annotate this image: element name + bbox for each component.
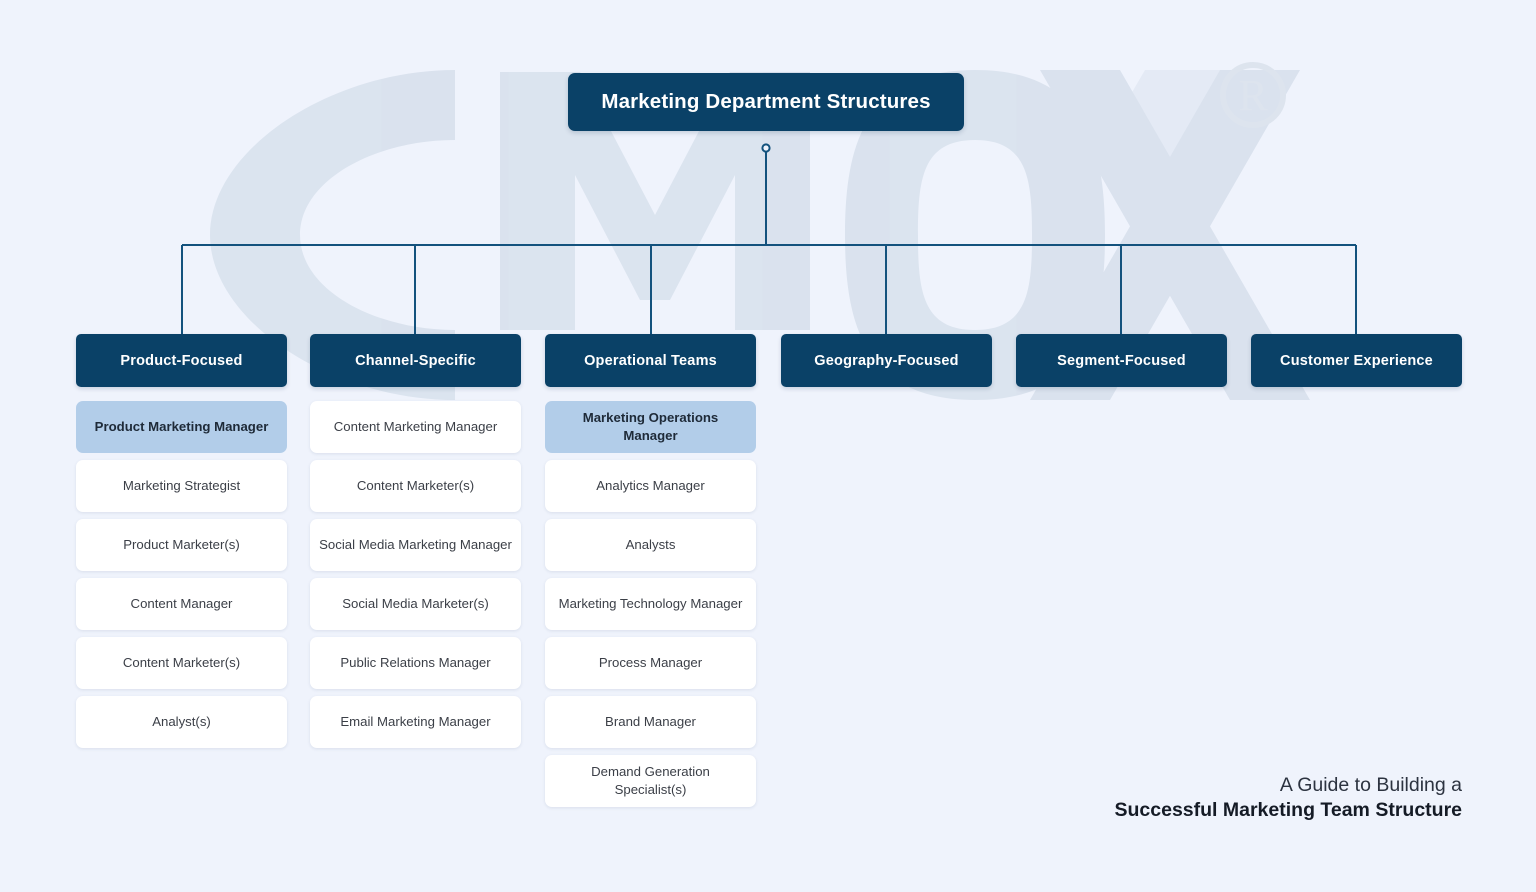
- column-header-1[interactable]: Product-Focused: [76, 334, 287, 387]
- role-card[interactable]: Content Manager: [76, 578, 287, 630]
- column-header-3[interactable]: Operational Teams: [545, 334, 756, 387]
- role-card-label: Content Marketer(s): [357, 477, 474, 495]
- role-card[interactable]: Content Marketing Manager: [310, 401, 521, 453]
- role-card-label: Content Marketing Manager: [334, 418, 497, 436]
- column-6: Customer Experience: [1251, 334, 1462, 401]
- role-card-label: Public Relations Manager: [340, 654, 490, 672]
- role-card[interactable]: Social Media Marketer(s): [310, 578, 521, 630]
- role-card-label: Demand Generation Specialist(s): [554, 763, 747, 799]
- role-card-label: Marketing Strategist: [123, 477, 240, 495]
- column-items-2: Content Marketing ManagerContent Markete…: [310, 401, 521, 748]
- role-card[interactable]: Product Marketer(s): [76, 519, 287, 571]
- column-header-label: Geography-Focused: [814, 353, 958, 369]
- svg-text:R: R: [1238, 71, 1268, 120]
- column-header-label: Product-Focused: [120, 353, 242, 369]
- role-card[interactable]: Brand Manager: [545, 696, 756, 748]
- column-items-1: Product Marketing ManagerMarketing Strat…: [76, 401, 287, 748]
- role-card[interactable]: Marketing Technology Manager: [545, 578, 756, 630]
- column-header-5[interactable]: Segment-Focused: [1016, 334, 1227, 387]
- column-header-label: Channel-Specific: [355, 353, 476, 369]
- role-card[interactable]: Demand Generation Specialist(s): [545, 755, 756, 807]
- role-card[interactable]: Social Media Marketing Manager: [310, 519, 521, 571]
- role-card[interactable]: Marketing Operations Manager: [545, 401, 756, 453]
- role-card[interactable]: Product Marketing Manager: [76, 401, 287, 453]
- role-card-label: Email Marketing Manager: [340, 713, 490, 731]
- role-card[interactable]: Analytics Manager: [545, 460, 756, 512]
- role-card-label: Brand Manager: [605, 713, 696, 731]
- column-4: Geography-Focused: [781, 334, 992, 401]
- role-card[interactable]: Marketing Strategist: [76, 460, 287, 512]
- diagram-canvas: R Marketing Department Structures Produc…: [0, 0, 1536, 892]
- registered-mark-icon: [1223, 65, 1283, 125]
- role-card[interactable]: Analyst(s): [76, 696, 287, 748]
- role-card-label: Content Marketer(s): [123, 654, 240, 672]
- column-header-2[interactable]: Channel-Specific: [310, 334, 521, 387]
- role-card-label: Analyst(s): [152, 713, 211, 731]
- column-2: Channel-SpecificContent Marketing Manage…: [310, 334, 521, 755]
- role-card-label: Content Manager: [131, 595, 233, 613]
- role-card[interactable]: Content Marketer(s): [76, 637, 287, 689]
- role-card-label: Analysts: [626, 536, 676, 554]
- trunk-endpoint-dot: [762, 144, 769, 151]
- role-card-label: Social Media Marketer(s): [342, 595, 489, 613]
- column-header-4[interactable]: Geography-Focused: [781, 334, 992, 387]
- footer-caption-line-2: Successful Marketing Team Structure: [1115, 798, 1463, 824]
- column-1: Product-FocusedProduct Marketing Manager…: [76, 334, 287, 755]
- column-items-3: Marketing Operations ManagerAnalytics Ma…: [545, 401, 756, 807]
- role-card-label: Product Marketer(s): [123, 536, 240, 554]
- column-header-label: Segment-Focused: [1057, 353, 1186, 369]
- role-card[interactable]: Analysts: [545, 519, 756, 571]
- role-card-label: Social Media Marketing Manager: [319, 536, 512, 554]
- column-5: Segment-Focused: [1016, 334, 1227, 401]
- role-card-label: Analytics Manager: [596, 477, 704, 495]
- role-card-label: Marketing Operations Manager: [554, 409, 747, 445]
- column-header-label: Operational Teams: [584, 353, 717, 369]
- role-card-label: Process Manager: [599, 654, 702, 672]
- column-header-label: Customer Experience: [1280, 353, 1433, 369]
- footer-caption: A Guide to Building a Successful Marketi…: [1115, 773, 1463, 824]
- root-node-label: Marketing Department Structures: [601, 90, 930, 114]
- column-header-6[interactable]: Customer Experience: [1251, 334, 1462, 387]
- role-card-label: Product Marketing Manager: [95, 418, 269, 436]
- footer-caption-line-1: A Guide to Building a: [1115, 773, 1463, 799]
- root-node[interactable]: Marketing Department Structures: [568, 73, 964, 131]
- role-card[interactable]: Public Relations Manager: [310, 637, 521, 689]
- role-card[interactable]: Content Marketer(s): [310, 460, 521, 512]
- role-card[interactable]: Email Marketing Manager: [310, 696, 521, 748]
- role-card[interactable]: Process Manager: [545, 637, 756, 689]
- role-card-label: Marketing Technology Manager: [559, 595, 743, 613]
- column-3: Operational TeamsMarketing Operations Ma…: [545, 334, 756, 814]
